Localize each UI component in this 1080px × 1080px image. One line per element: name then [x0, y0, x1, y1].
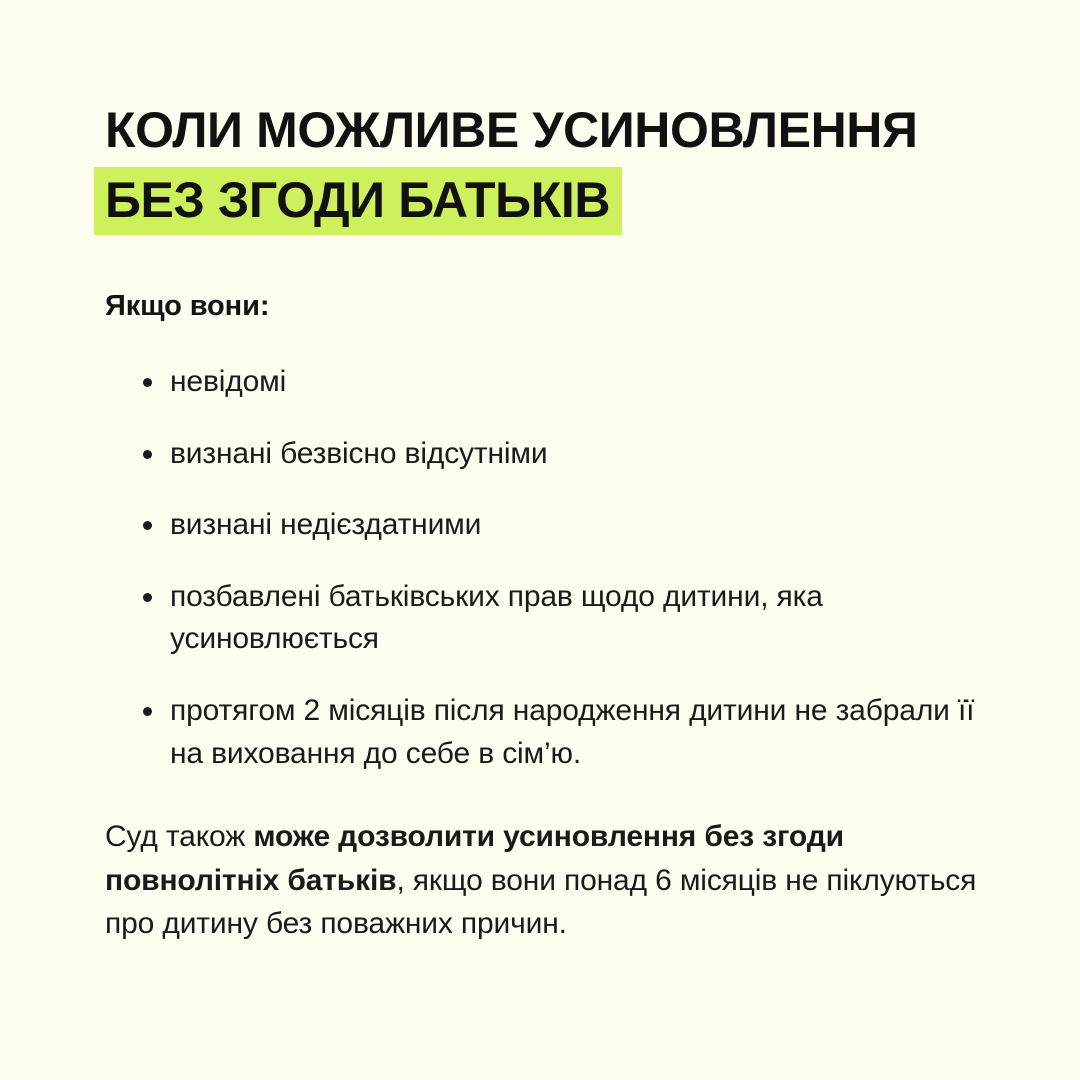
page-title: КОЛИ МОЖЛИВЕ УСИНОВЛЕННЯ БЕЗ ЗГОДИ БАТЬК…: [105, 105, 980, 235]
closing-paragraph: Суд також може дозволити усиновлення без…: [105, 815, 980, 946]
bullet-dot-icon: [143, 378, 152, 387]
list-item: визнані безвісно відсутніми: [143, 433, 980, 476]
title-line-primary: КОЛИ МОЖЛИВЕ УСИНОВЛЕННЯ: [105, 105, 980, 155]
list-item: невідомі: [143, 361, 980, 404]
closing-text-lead: Суд також: [105, 820, 253, 853]
list-item-label: визнані безвісно відсутніми: [170, 433, 980, 476]
list-item-label: протягом 2 місяців після народження дити…: [170, 690, 980, 775]
list-item: визнані недієздатними: [143, 504, 980, 547]
list-item: позбавлені батьківських прав щодо дитини…: [143, 576, 980, 661]
list-item-label: позбавлені батьківських прав щодо дитини…: [170, 576, 980, 661]
bullet-dot-icon: [143, 450, 152, 459]
list-item-label: невідомі: [170, 361, 980, 404]
list-item-label: визнані недієздатними: [170, 504, 980, 547]
bullet-dot-icon: [143, 521, 152, 530]
bullet-dot-icon: [143, 593, 152, 602]
conditions-list: невідомі визнані безвісно відсутніми виз…: [105, 361, 980, 775]
infographic-slide: КОЛИ МОЖЛИВЕ УСИНОВЛЕННЯ БЕЗ ЗГОДИ БАТЬК…: [0, 0, 1080, 1080]
subheading-condition: Якщо вони:: [105, 290, 980, 323]
list-item: протягом 2 місяців після народження дити…: [143, 690, 980, 775]
title-line-highlighted: БЕЗ ЗГОДИ БАТЬКІВ: [94, 167, 622, 235]
bullet-dot-icon: [143, 707, 152, 716]
